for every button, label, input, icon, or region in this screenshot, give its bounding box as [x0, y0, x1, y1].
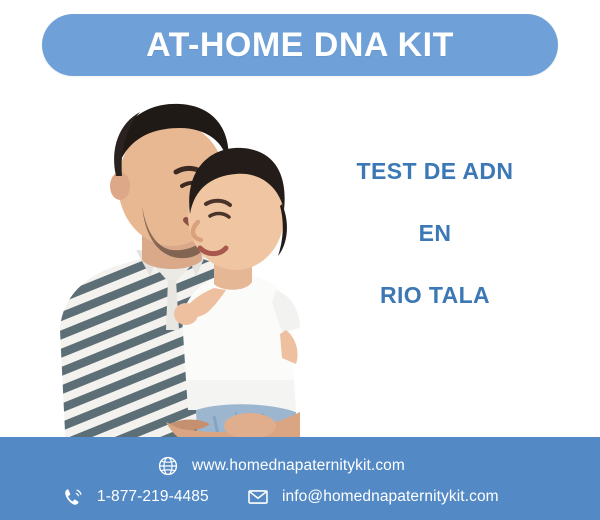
website-label: www.homednapaternitykit.com: [192, 457, 405, 475]
phone-label: 1-877-219-4485: [97, 488, 209, 506]
headline-line-2: EN: [330, 222, 540, 245]
envelope-icon: [247, 486, 269, 508]
globe-icon: [157, 455, 179, 477]
footer-email[interactable]: info@homednapaternitykit.com: [247, 486, 499, 508]
family-photo: [0, 80, 320, 452]
promo-card: AT-HOME DNA KIT: [0, 0, 600, 520]
headline-line-1: TEST DE ADN: [330, 160, 540, 183]
page-title: AT-HOME DNA KIT: [146, 28, 454, 62]
footer-phone[interactable]: 1-877-219-4485: [62, 486, 209, 508]
footer-website[interactable]: www.homednapaternitykit.com: [157, 455, 405, 477]
footer-notch: [0, 437, 297, 451]
headline-block: TEST DE ADN EN RIO TALA: [330, 160, 540, 307]
email-label: info@homednapaternitykit.com: [282, 488, 499, 506]
header-banner: AT-HOME DNA KIT: [42, 14, 558, 76]
headline-line-3: RIO TALA: [330, 284, 540, 307]
phone-icon: [62, 486, 84, 508]
